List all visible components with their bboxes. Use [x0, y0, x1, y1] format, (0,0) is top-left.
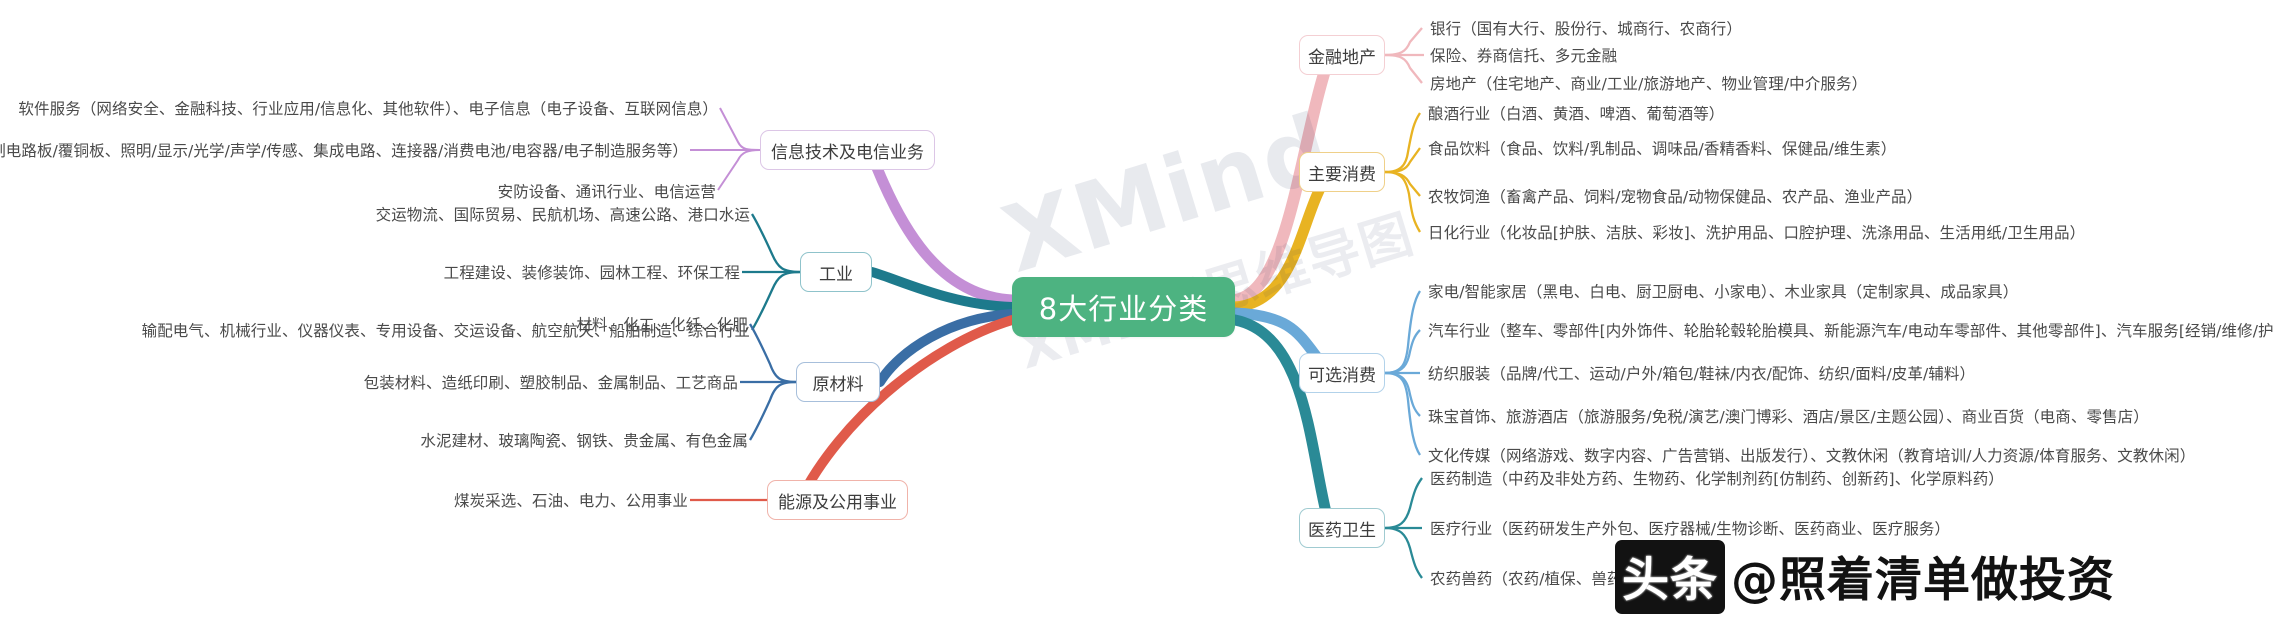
fan-disc-1 [1385, 291, 1420, 373]
branch-node-it[interactable]: 信息技术及电信业务 [760, 130, 935, 170]
leaf-materials-1: 材料、化工、化纤、化肥 [576, 316, 748, 335]
leaf-finance-3: 房地产（住宅地产、商业/工业/旅游地产、物业管理/中介服务） [1430, 75, 1867, 94]
fan-disc-2 [1385, 330, 1420, 373]
branch-node-industry[interactable]: 工业 [800, 252, 872, 292]
leaf-it-2: 电子元件（印制电路板/覆铜板、照明/显示/光学/声学/传感、集成电路、连接器/消… [0, 142, 688, 161]
leaf-health-2: 医疗行业（医药研发生产外包、医疗器械/生物诊断、医药商业、医疗服务） [1430, 520, 1950, 539]
channel-badge: 头条 [1615, 540, 1725, 614]
leaf-it-1: 软件服务（网络安全、金融科技、行业应用/信息化、其他软件）、电子信息（电子设备、… [18, 100, 718, 119]
leaf-materials-2: 包装材料、造纸印刷、塑胶制品、金属制品、工艺商品 [364, 374, 738, 393]
branch-node-health[interactable]: 医药卫生 [1299, 508, 1385, 548]
leaf-staples-3: 农牧饲渔（畜禽产品、饲料/宠物食品/动物保健品、农产品、渔业产品） [1428, 188, 1922, 207]
branch-node-staples[interactable]: 主要消费 [1299, 152, 1385, 192]
trunk-it [870, 150, 1012, 300]
fan-materials-1 [750, 324, 796, 382]
fan-industry-1 [752, 214, 800, 272]
leaf-staples-2: 食品饮料（食品、饮料/乳制品、调味品/香精香料、保健品/维生素） [1428, 140, 1896, 159]
fan-health-1 [1385, 478, 1422, 528]
mindmap-canvas: XMind XMind思维导图 8大行业分类 信息技术及电信业务 工业 原材料 … [0, 0, 2274, 619]
leaf-disc-3: 纺织服装（品牌/代工、运动/户外/箱包/鞋袜/内衣/配饰、纺织/面料/皮革/辅料… [1428, 365, 1975, 384]
channel-watermark: 头条@照着清单做投资 [1615, 540, 2115, 614]
fan-staples-4 [1385, 172, 1420, 232]
leaf-staples-1: 酿酒行业（白酒、黄酒、啤酒、葡萄酒等） [1428, 105, 1724, 124]
fan-staples-1 [1385, 113, 1420, 172]
branch-node-finance[interactable]: 金融地产 [1299, 35, 1385, 75]
branch-node-energy[interactable]: 能源及公用事业 [767, 480, 908, 520]
leaf-energy-1: 煤炭采选、石油、电力、公用事业 [454, 492, 688, 511]
fan-finance-3 [1385, 55, 1422, 83]
leaf-staples-4: 日化行业（化妆品[护肤、洁肤、彩妆]、洗护用品、口腔护理、洗涤用品、生活用纸/卫… [1428, 224, 2085, 243]
leaf-industry-1: 交运物流、国际贸易、民航机场、高速公路、港口水运 [376, 206, 750, 225]
leaf-it-3: 安防设备、通讯行业、电信运营 [498, 183, 716, 202]
leaf-industry-2: 工程建设、装修装饰、园林工程、环保工程 [444, 264, 740, 283]
fan-materials-3 [750, 382, 796, 440]
fan-staples-2 [1385, 148, 1420, 172]
trunk-staples [1235, 172, 1330, 307]
root-node[interactable]: 8大行业分类 [1012, 277, 1235, 337]
fan-finance-1 [1385, 28, 1422, 55]
fan-it-1 [720, 108, 760, 150]
fan-disc-4 [1385, 373, 1420, 416]
fan-disc-5 [1385, 373, 1420, 455]
trunk-industry [872, 272, 1012, 307]
leaf-disc-5: 文化传媒（网络游戏、数字内容、广告营销、出版发行）、文教休闲（教育培训/人力资源… [1428, 447, 2195, 466]
branch-node-discretionary[interactable]: 可选消费 [1299, 353, 1385, 393]
trunk-health [1235, 320, 1330, 528]
leaf-disc-1: 家电/智能家居（黑电、白电、厨卫厨电、小家电）、木业家具（定制家具、成品家具） [1428, 283, 2018, 302]
trunk-materials [880, 314, 1012, 382]
leaf-disc-4: 珠宝首饰、旅游酒店（旅游服务/免税/演艺/澳门博彩、酒店/景区/主题公园）、商业… [1428, 408, 2149, 427]
fan-it-3 [718, 150, 760, 190]
leaf-health-1: 医药制造（中药及非处方药、生物药、化学制剂药[仿制药、创新药]、化学原料药） [1430, 470, 2004, 489]
leaf-finance-2: 保险、券商信托、多元金融 [1430, 47, 1617, 66]
fan-industry-3 [752, 272, 800, 330]
trunk-energy [800, 320, 1012, 500]
fan-health-3 [1385, 528, 1422, 578]
watermark-xmind: XMind [992, 93, 1344, 293]
channel-handle: @照着清单做投资 [1731, 553, 2115, 608]
branch-node-materials[interactable]: 原材料 [796, 362, 880, 402]
fan-staples-3 [1385, 172, 1420, 196]
leaf-disc-2: 汽车行业（整车、零部件[内外饰件、轮胎轮毂轮胎模具、新能源汽车/电动车零部件、其… [1428, 322, 2274, 341]
leaf-materials-3: 水泥建材、玻璃陶瓷、钢铁、贵金属、有色金属 [420, 432, 748, 451]
leaf-finance-1: 银行（国有大行、股份行、城商行、农商行） [1430, 20, 1742, 39]
